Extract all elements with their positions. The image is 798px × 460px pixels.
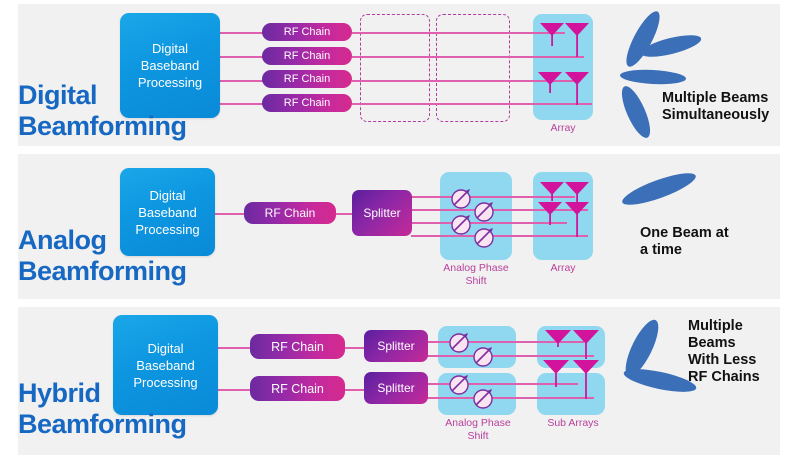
antenna-a4: [565, 202, 591, 243]
wire-rf-splitter-h1: [344, 347, 366, 349]
note-analog: One Beam at a time: [640, 225, 729, 259]
note-analog-line1: One Beam at: [640, 225, 729, 242]
wire-rf-array-2: [352, 56, 584, 58]
phase-shift-caption-line1: Analog Phase: [428, 262, 524, 275]
rf-chain-h1[interactable]: RF Chain: [250, 334, 345, 359]
splitter-h1[interactable]: Splitter: [364, 330, 428, 362]
dashed-placeholder-2: [436, 14, 510, 122]
wire-rf-array-1: [352, 32, 565, 34]
phase-shift-caption-line2: Shift: [428, 430, 528, 443]
note-digital: Multiple Beams Simultaneously: [662, 90, 769, 124]
antenna-d2: [565, 23, 591, 63]
rf-chain-label: RF Chain: [271, 382, 324, 396]
array-caption-analog: Array: [533, 262, 593, 275]
phase-shifter-h3: [448, 372, 472, 401]
rf-chain-d1[interactable]: RF Chain: [262, 23, 352, 41]
baseband-line-1: Digital: [138, 40, 202, 57]
splitter-label: Splitter: [377, 381, 414, 395]
rf-chain-a1[interactable]: RF Chain: [244, 202, 336, 224]
wire-bb-rf-a1: [214, 213, 246, 215]
rf-chain-label: RF Chain: [284, 26, 330, 38]
note-digital-line1: Multiple Beams: [662, 90, 769, 107]
splitter-label: Splitter: [377, 339, 414, 353]
splitter-a1[interactable]: Splitter: [352, 190, 412, 236]
wire-bb-rf-2: [218, 56, 264, 58]
row-title-hybrid-line2: Beamforming: [18, 409, 187, 440]
row-title-digital: Digital Beamforming: [18, 80, 187, 142]
note-hybrid-line4: RF Chains: [688, 369, 760, 386]
phase-shifter-h4: [472, 386, 496, 415]
wire-bb-rf-1: [218, 32, 264, 34]
wire-bb-rf-4: [218, 103, 264, 105]
rf-chain-d3[interactable]: RF Chain: [262, 70, 352, 88]
phase-shifter-a2: [473, 199, 497, 228]
beamforming-diagram: Digital Beamforming Digital Baseband Pro…: [0, 0, 798, 460]
phase-shifter-h2: [472, 344, 496, 373]
wire-bb-rf-h1: [216, 347, 252, 349]
array-caption-digital: Array: [533, 122, 593, 135]
antenna-h1: [545, 330, 573, 353]
splitter-label: Splitter: [363, 206, 400, 220]
baseband-line-2: Baseband: [138, 57, 202, 74]
row-title-hybrid: Hybrid Beamforming: [18, 378, 187, 440]
rf-chain-label: RF Chain: [284, 50, 330, 62]
row-title-analog-line1: Analog: [18, 225, 187, 256]
phase-shifter-a4: [473, 225, 497, 254]
splitter-h2[interactable]: Splitter: [364, 372, 428, 404]
note-hybrid-line2: Beams: [688, 335, 760, 352]
phase-shift-caption-line2: Shift: [428, 275, 524, 288]
baseband-line-2: Baseband: [135, 204, 199, 221]
baseband-line-2: Baseband: [133, 357, 197, 374]
baseband-line-1: Digital: [133, 340, 197, 357]
antenna-d3: [538, 72, 564, 99]
row-title-analog: Analog Beamforming: [18, 225, 187, 287]
rf-chain-label: RF Chain: [284, 97, 330, 109]
note-hybrid: Multiple Beams With Less RF Chains: [688, 318, 760, 386]
note-analog-line2: a time: [640, 242, 729, 259]
row-title-digital-line1: Digital: [18, 80, 187, 111]
wire-rf-array-4: [352, 103, 592, 105]
note-hybrid-line3: With Less: [688, 352, 760, 369]
antenna-d4: [565, 72, 591, 111]
rf-chain-d4[interactable]: RF Chain: [262, 94, 352, 112]
phase-shift-caption-analog: Analog Phase Shift: [428, 262, 524, 288]
rf-chain-label: RF Chain: [265, 206, 316, 220]
array-caption-hybrid: Sub Arrays: [537, 417, 609, 430]
rf-chain-label: RF Chain: [284, 73, 330, 85]
wire-bb-rf-3: [218, 80, 264, 82]
antenna-h3: [543, 360, 571, 393]
note-hybrid-line1: Multiple: [688, 318, 760, 335]
rf-chain-h2[interactable]: RF Chain: [250, 376, 345, 401]
phase-shift-caption-line1: Analog Phase: [428, 417, 528, 430]
antenna-d1: [540, 23, 566, 52]
antenna-h4: [573, 360, 601, 405]
phase-shifter-a3: [450, 212, 474, 241]
phase-shifter-h1: [448, 330, 472, 359]
baseband-line-1: Digital: [135, 187, 199, 204]
antenna-a3: [538, 202, 564, 231]
row-title-analog-line2: Beamforming: [18, 256, 187, 287]
row-title-hybrid-line1: Hybrid: [18, 378, 187, 409]
note-digital-line2: Simultaneously: [662, 107, 769, 124]
wire-rf-splitter-h2: [344, 389, 366, 391]
rf-chain-d2[interactable]: RF Chain: [262, 47, 352, 65]
phase-shifter-a1: [450, 186, 474, 215]
wire-bb-rf-h2: [216, 389, 252, 391]
row-title-digital-line2: Beamforming: [18, 111, 187, 142]
rf-chain-label: RF Chain: [271, 340, 324, 354]
phase-shift-caption-hybrid: Analog Phase Shift: [428, 417, 528, 443]
dashed-placeholder-1: [360, 14, 430, 122]
